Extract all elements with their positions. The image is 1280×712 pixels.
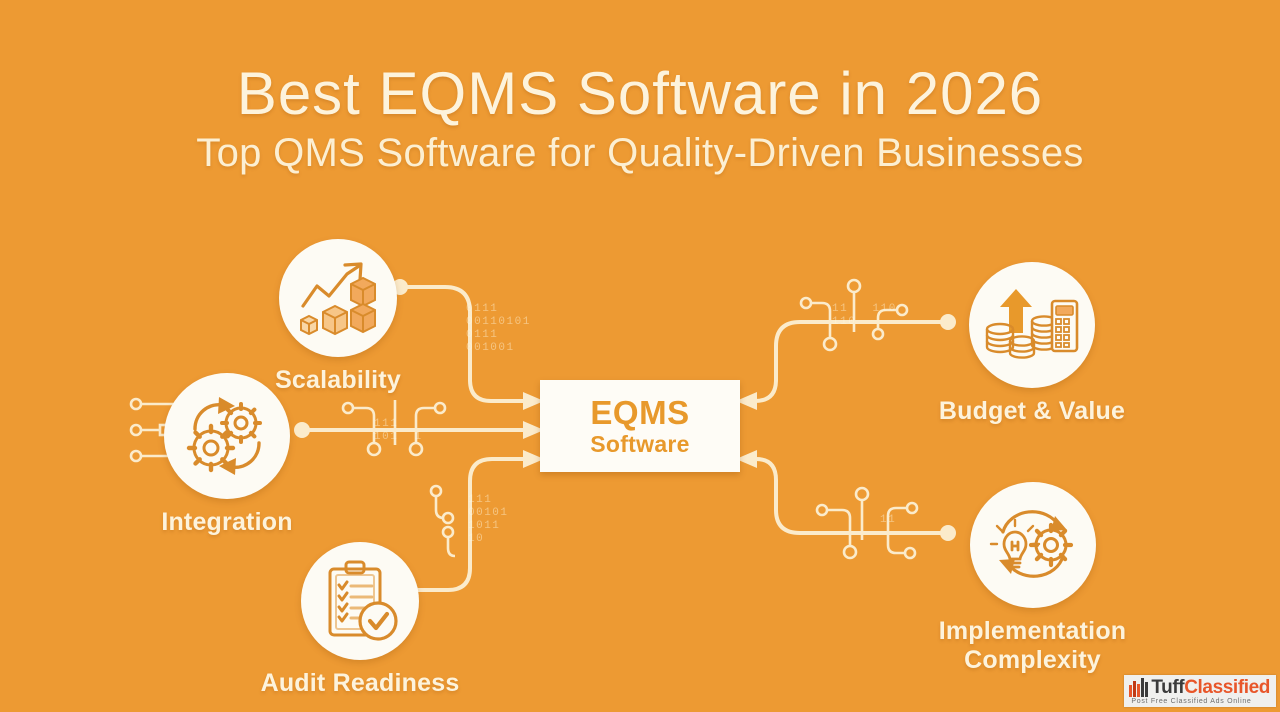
center-node-eqms-software: EQMS Software bbox=[540, 380, 740, 472]
watermark-row: TuffClassified bbox=[1129, 678, 1270, 697]
node-label-integration: Integration bbox=[107, 508, 347, 537]
center-sub-label: Software bbox=[590, 431, 690, 457]
implementation-label-line1: Implementation bbox=[939, 617, 1127, 645]
audit-icon-circle bbox=[301, 542, 419, 660]
page-title: Best EQMS Software in 2026 bbox=[0, 62, 1280, 126]
implementation-label-line2: Complexity bbox=[964, 646, 1101, 674]
node-scalability: Scalability bbox=[213, 239, 463, 395]
lightbulb-gear-icon bbox=[987, 504, 1079, 586]
binary-decoration-mid: 111 101 1 bbox=[374, 418, 423, 444]
watermark-brand-first: Tuff bbox=[1151, 677, 1184, 698]
node-budget-value: Budget & Value bbox=[907, 262, 1157, 426]
watermark-brand: TuffClassified bbox=[1151, 678, 1270, 697]
coins-calculator-arrow-icon bbox=[986, 285, 1078, 365]
bar-chart-logo-icon bbox=[1129, 678, 1149, 697]
node-audit-readiness: Audit Readiness bbox=[225, 542, 495, 698]
watermark-tuffclassified[interactable]: TuffClassified Post Free Classified Ads … bbox=[1124, 675, 1276, 707]
binary-decoration-right-top: 11 110 110 bbox=[832, 303, 897, 329]
circuit-trace-audit bbox=[431, 486, 453, 523]
header: Best EQMS Software in 2026 Top QMS Softw… bbox=[0, 62, 1280, 176]
node-implementation-complexity: Implementation Complexity bbox=[900, 482, 1165, 675]
binary-decoration-bottom: 111 00101 1011 10 bbox=[468, 494, 509, 546]
binary-decoration-top: 0111 00110101 0111 001001 bbox=[466, 303, 531, 355]
clipboard-checklist-icon bbox=[320, 559, 400, 643]
growth-chart-boxes-icon bbox=[297, 260, 379, 336]
implementation-icon-circle bbox=[970, 482, 1096, 608]
watermark-brand-second: Classified bbox=[1184, 677, 1270, 698]
gears-sync-icon bbox=[183, 395, 271, 477]
node-integration: Integration bbox=[107, 373, 347, 537]
page-subtitle: Top QMS Software for Quality-Driven Busi… bbox=[0, 130, 1280, 176]
watermark-tagline: Post Free Classified Ads Online bbox=[1131, 698, 1251, 705]
binary-decoration-right-bottom: 11 bbox=[880, 514, 896, 527]
scalability-icon-circle bbox=[279, 239, 397, 357]
node-label-budget-value: Budget & Value bbox=[907, 397, 1157, 426]
infographic-canvas: Best EQMS Software in 2026 Top QMS Softw… bbox=[0, 0, 1280, 712]
node-label-audit-readiness: Audit Readiness bbox=[225, 669, 495, 698]
budget-icon-circle bbox=[969, 262, 1095, 388]
node-label-implementation-complexity: Implementation Complexity bbox=[900, 617, 1165, 675]
integration-icon-circle bbox=[164, 373, 290, 499]
center-main-label: EQMS bbox=[590, 396, 689, 430]
